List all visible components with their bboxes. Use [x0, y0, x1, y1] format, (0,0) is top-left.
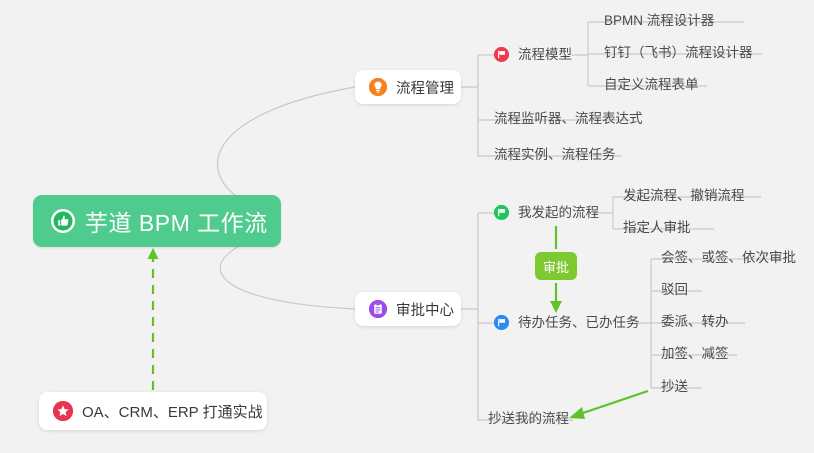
- leaf-assignee-approval[interactable]: 指定人审批: [623, 221, 691, 235]
- node-approval-center[interactable]: 审批中心: [355, 292, 461, 326]
- leaf-start-cancel-flow[interactable]: 发起流程、撤销流程: [623, 189, 745, 203]
- leaf-custom-flow-form-label: 自定义流程表单: [604, 78, 699, 92]
- node-todo-done-tasks[interactable]: 待办任务、已办任务: [494, 315, 640, 330]
- thumbs-up-icon: [51, 209, 75, 233]
- leaf-reject-label: 驳回: [661, 283, 688, 297]
- node-approval-center-label: 审批中心: [396, 299, 454, 320]
- mindmap-canvas: 芋道 BPM 工作流 流程管理: [0, 0, 814, 453]
- leaf-cc-to-me-flow-label: 抄送我的流程: [488, 412, 569, 426]
- node-oa-crm-erp-label: OA、CRM、ERP 打通实战: [82, 401, 263, 422]
- carbon-copy-arrow: [569, 391, 648, 419]
- clipboard-icon: [369, 300, 387, 318]
- root-node[interactable]: 芋道 BPM 工作流: [33, 195, 281, 247]
- node-todo-done-tasks-label: 待办任务、已办任务: [518, 316, 640, 330]
- leaf-countersign-orsign-sequential[interactable]: 会签、或签、依次审批: [661, 251, 796, 265]
- node-oa-crm-erp[interactable]: OA、CRM、ERP 打通实战: [39, 392, 267, 430]
- leaf-bpmn-designer-label: BPMN 流程设计器: [604, 14, 714, 28]
- leaf-flow-instance-task-label: 流程实例、流程任务: [494, 148, 616, 162]
- node-my-initiated-flow-label: 我发起的流程: [518, 206, 599, 220]
- approve-tag: 审批: [535, 252, 577, 280]
- leaf-dingtalk-feishu-designer-label: 钉钉（飞书）流程设计器: [604, 46, 753, 60]
- oa-integration-arrow: [148, 248, 159, 390]
- leaf-start-cancel-flow-label: 发起流程、撤销流程: [623, 189, 745, 203]
- leaf-carbon-copy[interactable]: 抄送: [661, 380, 688, 394]
- leaf-custom-flow-form[interactable]: 自定义流程表单: [604, 78, 699, 92]
- node-flow-management[interactable]: 流程管理: [355, 70, 461, 104]
- leaf-flow-instance-task[interactable]: 流程实例、流程任务: [494, 148, 616, 162]
- node-flow-management-label: 流程管理: [396, 77, 454, 98]
- flag-icon: [494, 47, 509, 62]
- leaf-carbon-copy-label: 抄送: [661, 380, 688, 394]
- leaf-countersign-orsign-sequential-label: 会签、或签、依次审批: [661, 251, 796, 265]
- leaf-delegate-transfer[interactable]: 委派、转办: [661, 315, 729, 329]
- leaf-reject[interactable]: 驳回: [661, 283, 688, 297]
- node-my-initiated-flow[interactable]: 我发起的流程: [494, 205, 599, 220]
- node-flow-model[interactable]: 流程模型: [494, 47, 572, 62]
- root-label: 芋道 BPM 工作流: [85, 204, 268, 238]
- node-flow-model-label: 流程模型: [518, 48, 572, 62]
- leaf-bpmn-designer[interactable]: BPMN 流程设计器: [604, 14, 714, 28]
- leaf-delegate-transfer-label: 委派、转办: [661, 315, 729, 329]
- leaf-add-remove-sign[interactable]: 加签、减签: [661, 347, 729, 361]
- approve-tag-label: 审批: [543, 257, 569, 276]
- leaf-flow-listener-expression-label: 流程监听器、流程表达式: [494, 112, 643, 126]
- leaf-add-remove-sign-label: 加签、减签: [661, 347, 729, 361]
- flag-icon: [494, 205, 509, 220]
- leaf-cc-to-me-flow[interactable]: 抄送我的流程: [488, 412, 569, 426]
- leaf-assignee-approval-label: 指定人审批: [623, 221, 691, 235]
- star-icon: [53, 401, 73, 421]
- flag-icon: [494, 315, 509, 330]
- leaf-flow-listener-expression[interactable]: 流程监听器、流程表达式: [494, 112, 643, 126]
- leaf-dingtalk-feishu-designer[interactable]: 钉钉（飞书）流程设计器: [604, 46, 753, 60]
- lightbulb-icon: [369, 78, 387, 96]
